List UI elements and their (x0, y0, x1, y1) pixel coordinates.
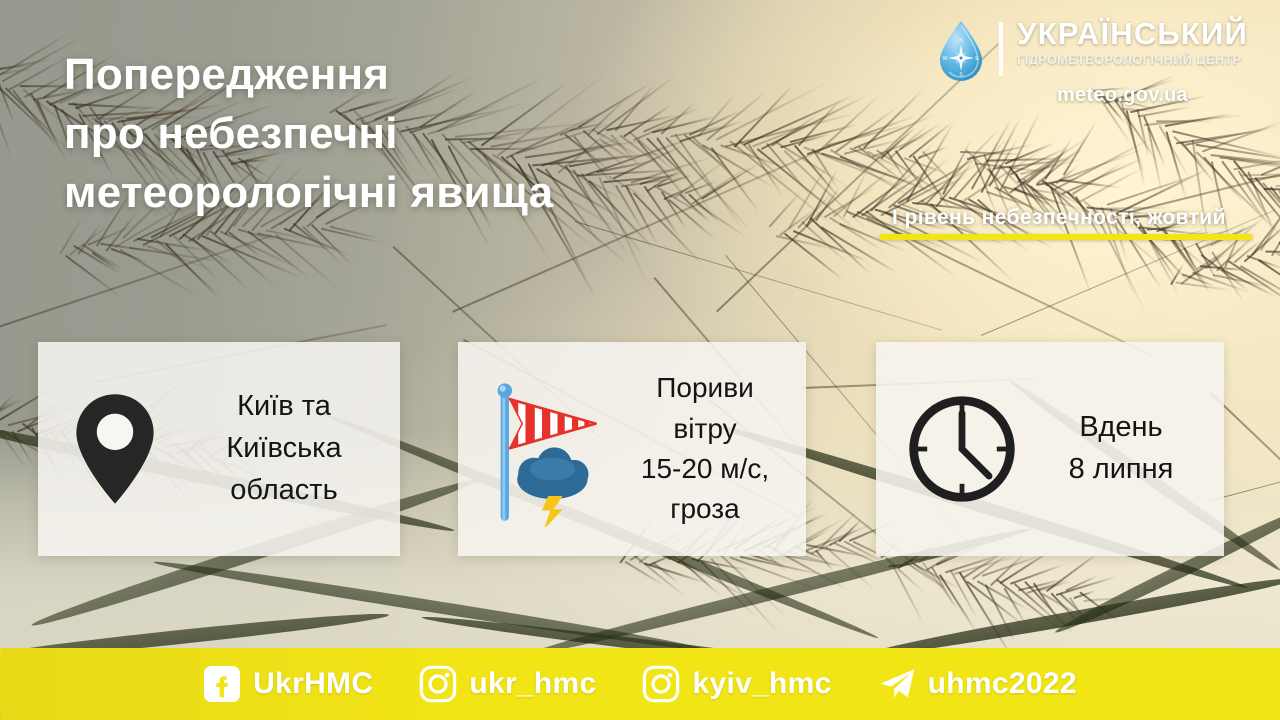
wind-pennant-thunderstorm-icon (472, 372, 612, 527)
card-phenomenon-text: Пориви вітру 15-20 м/с, гроза (612, 368, 806, 529)
water-drop-compass-icon: N S E W (937, 20, 985, 82)
social-link-instagram-kyiv[interactable]: kyiv_hmc (642, 665, 831, 703)
danger-level-label: І рівень небезпечності, жовтий (880, 206, 1252, 230)
instagram-icon (642, 665, 680, 703)
info-cards: Київ та Київська область (0, 342, 1280, 556)
facebook-handle: UkrHMC (253, 667, 373, 701)
weather-warning-poster: N S E W УКРАЇНСЬКИЙ ГІДРОМЕТЕОРОЛОГІЧНИЙ… (0, 0, 1280, 720)
instagram-handle-kyiv: kyiv_hmc (692, 667, 831, 701)
brand-name: УКРАЇНСЬКИЙ (1017, 18, 1248, 50)
social-link-instagram-ukr[interactable]: ukr_hmc (419, 665, 596, 703)
card-phenomenon: Пориви вітру 15-20 м/с, гроза (458, 342, 806, 556)
danger-level: І рівень небезпечності, жовтий (880, 206, 1252, 240)
social-link-facebook[interactable]: UkrHMC (203, 665, 373, 703)
social-link-telegram[interactable]: uhmc2022 (878, 665, 1077, 703)
card-region-text: Київ та Київська область (176, 386, 400, 511)
instagram-icon (419, 665, 457, 703)
telegram-handle: uhmc2022 (928, 667, 1077, 701)
facebook-icon (203, 665, 241, 703)
card-time-text: Вдень 8 липня (1026, 407, 1224, 491)
card-time: Вдень 8 липня (876, 342, 1224, 556)
location-pin-icon (54, 390, 176, 508)
svg-text:W: W (943, 56, 948, 62)
danger-level-bar (880, 234, 1252, 240)
logo-divider (999, 22, 1003, 76)
clock-icon (898, 391, 1026, 507)
brand-logo: N S E W УКРАЇНСЬКИЙ ГІДРОМЕТЕОРОЛОГІЧНИЙ… (937, 18, 1248, 82)
telegram-icon (878, 665, 916, 703)
card-region: Київ та Київська область (38, 342, 400, 556)
instagram-handle-ukr: ukr_hmc (469, 667, 596, 701)
social-footer: UkrHMC ukr_hmc kyiv_hmc uhmc2022 (0, 648, 1280, 720)
brand-url: meteo.gov.ua (1057, 84, 1188, 107)
svg-text:N: N (959, 38, 963, 44)
page-title: Попередження про небезпечні метеорологіч… (64, 46, 553, 223)
brand-subtitle: ГІДРОМЕТЕОРОЛОГІЧНИЙ ЦЕНТР (1017, 53, 1248, 67)
